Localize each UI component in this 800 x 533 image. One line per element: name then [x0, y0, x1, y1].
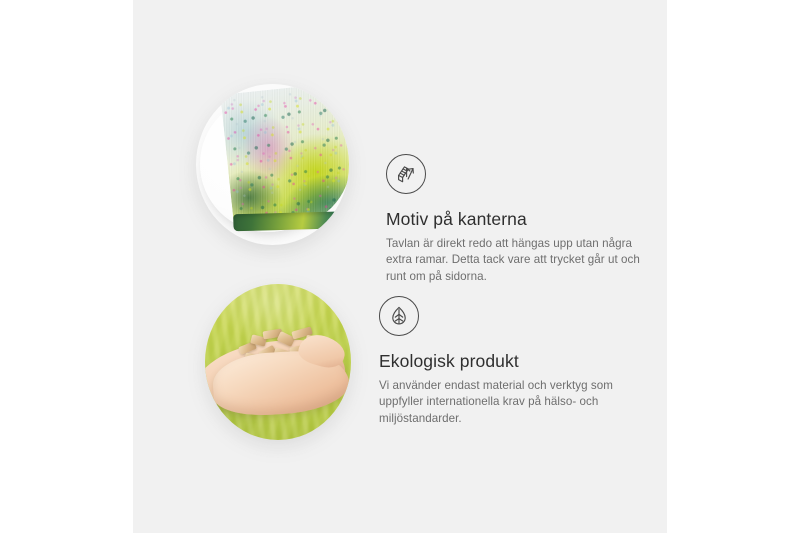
leaf-icon — [379, 296, 419, 336]
feature-description: Tavlan är direkt redo att hängas upp uta… — [386, 236, 654, 285]
feature-ekologisk-produkt: Ekologisk produkt Vi använder endast mat… — [196, 284, 647, 440]
canvas-print-face — [220, 84, 349, 229]
canvas-print-object — [220, 84, 349, 229]
canvas-edge-wrap-icon — [386, 154, 426, 194]
canvas-print-wrapped-edge — [233, 211, 341, 231]
product-feature-banner: Motiv på kanterna Tavlan är direkt redo … — [0, 0, 800, 533]
feature-title: Ekologisk produkt — [379, 350, 647, 372]
feature-motiv-pa-kanterna: Motiv på kanterna Tavlan är direkt redo … — [196, 84, 654, 285]
canvas-print-corner-photo — [196, 84, 349, 245]
feature-copy-ekologisk: Ekologisk produkt Vi använder endast mat… — [379, 284, 647, 427]
feature-title: Motiv på kanterna — [386, 208, 654, 230]
feature-copy-motiv: Motiv på kanterna Tavlan är direkt redo … — [386, 84, 654, 285]
hands-holding-wood-chips-photo — [205, 284, 351, 440]
feature-description: Vi använder endast material och verktyg … — [379, 378, 647, 427]
